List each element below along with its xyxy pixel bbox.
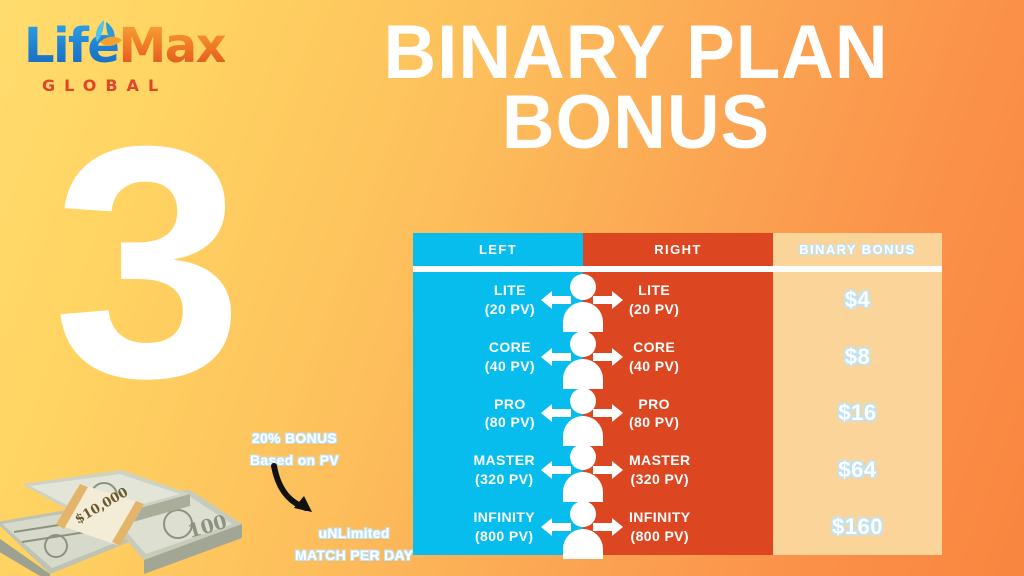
right-rank-name: CORE xyxy=(633,339,675,355)
match-note-line-1: uNLimited xyxy=(295,523,413,545)
title-line-1: BINARY PLAN xyxy=(281,18,991,88)
bonus-note-line-1: 20% BONUS xyxy=(250,428,339,450)
left-rank: INFINITY(800 PV) xyxy=(473,508,535,546)
left-rank-pv: (320 PV) xyxy=(473,470,535,489)
right-rank: INFINITY(800 PV) xyxy=(629,508,691,546)
logo-wordmark: LifeMax xyxy=(24,22,254,74)
table-row: LITE(20 PV) xyxy=(413,272,583,329)
left-rank: LITE(20 PV) xyxy=(485,281,535,319)
right-rank-pv: (20 PV) xyxy=(629,300,679,319)
table-row: MASTER(320 PV) xyxy=(413,442,583,499)
cash-stacks-icon: 100 $10,000 xyxy=(0,450,244,576)
arrow-right-icon xyxy=(591,346,625,368)
right-column-body: LITE(20 PV)CORE(40 PV)PRO(80 PV)MASTER(3… xyxy=(583,272,773,555)
arrow-right-icon xyxy=(591,402,625,424)
left-rank-pv: (20 PV) xyxy=(485,300,535,319)
arrow-left-icon xyxy=(539,459,573,481)
right-rank-pv: (40 PV) xyxy=(629,357,679,376)
right-rank: MASTER(320 PV) xyxy=(629,451,691,489)
table-row: $4 xyxy=(773,272,942,329)
bonus-value: $4 xyxy=(845,287,870,313)
match-note: uNLimited MATCH PER DAY xyxy=(295,523,413,566)
match-note-line-2: MATCH PER DAY xyxy=(295,545,413,567)
bonus-value: $16 xyxy=(838,400,876,426)
page-title: BINARY PLAN BONUS xyxy=(281,18,991,158)
table-row: $8 xyxy=(773,329,942,386)
right-rank: CORE(40 PV) xyxy=(629,338,679,376)
right-rank-pv: (320 PV) xyxy=(629,470,691,489)
table-row: PRO(80 PV) xyxy=(583,385,773,442)
table-row: MASTER(320 PV) xyxy=(583,442,773,499)
arrow-right-icon xyxy=(591,289,625,311)
table-row: CORE(40 PV) xyxy=(583,329,773,386)
left-rank: CORE(40 PV) xyxy=(485,338,535,376)
bonus-value: $160 xyxy=(832,514,883,540)
binary-plan-table: LEFT RIGHT BINARY BONUS LITE(20 PV)CORE(… xyxy=(413,233,942,555)
table-row: $160 xyxy=(773,498,942,555)
left-rank-name: MASTER xyxy=(473,452,535,468)
arrow-left-icon xyxy=(539,516,573,538)
left-column-body: LITE(20 PV)CORE(40 PV)PRO(80 PV)MASTER(3… xyxy=(413,272,583,555)
slide-canvas: LifeMax GLOBAL BINARY PLAN BONUS 3 20% B… xyxy=(0,0,1024,576)
arrow-left-icon xyxy=(539,346,573,368)
right-rank-name: PRO xyxy=(638,396,670,412)
table-row: PRO(80 PV) xyxy=(413,385,583,442)
right-rank: PRO(80 PV) xyxy=(629,395,679,433)
table-row: LITE(20 PV) xyxy=(583,272,773,329)
right-rank-name: LITE xyxy=(638,282,670,298)
table-row: INFINITY(800 PV) xyxy=(583,498,773,555)
left-rank-name: LITE xyxy=(494,282,526,298)
table-row: $16 xyxy=(773,385,942,442)
left-rank-pv: (40 PV) xyxy=(485,357,535,376)
arrow-left-icon xyxy=(539,289,573,311)
left-rank-pv: (800 PV) xyxy=(473,527,535,546)
arrow-right-icon xyxy=(591,459,625,481)
table-header-left: LEFT xyxy=(413,233,583,266)
bonus-value: $8 xyxy=(845,344,870,370)
table-row: INFINITY(800 PV) xyxy=(413,498,583,555)
curved-arrow-icon xyxy=(268,462,328,524)
arrow-left-icon xyxy=(539,402,573,424)
right-rank-pv: (800 PV) xyxy=(629,527,691,546)
arrow-right-icon xyxy=(591,516,625,538)
table-row: CORE(40 PV) xyxy=(413,329,583,386)
right-rank-pv: (80 PV) xyxy=(629,413,679,432)
left-rank: MASTER(320 PV) xyxy=(473,451,535,489)
left-rank-pv: (80 PV) xyxy=(485,413,535,432)
bonus-column-body: $4$8$16$64$160 xyxy=(773,272,942,555)
left-rank-name: CORE xyxy=(489,339,531,355)
title-line-2: BONUS xyxy=(281,88,991,158)
left-rank-name: PRO xyxy=(494,396,526,412)
right-rank-name: MASTER xyxy=(629,452,691,468)
logo-max-text: Max xyxy=(118,18,225,74)
slide-number: 3 xyxy=(13,92,283,432)
bonus-value: $64 xyxy=(838,457,876,483)
table-header-bonus: BINARY BONUS xyxy=(773,233,942,266)
right-rank: LITE(20 PV) xyxy=(629,281,679,319)
table-row: $64 xyxy=(773,442,942,499)
table-header-right: RIGHT xyxy=(583,233,773,266)
right-rank-name: INFINITY xyxy=(629,509,691,525)
left-rank-name: INFINITY xyxy=(473,509,535,525)
left-rank: PRO(80 PV) xyxy=(485,395,535,433)
logo-life-text: Life xyxy=(24,18,118,74)
